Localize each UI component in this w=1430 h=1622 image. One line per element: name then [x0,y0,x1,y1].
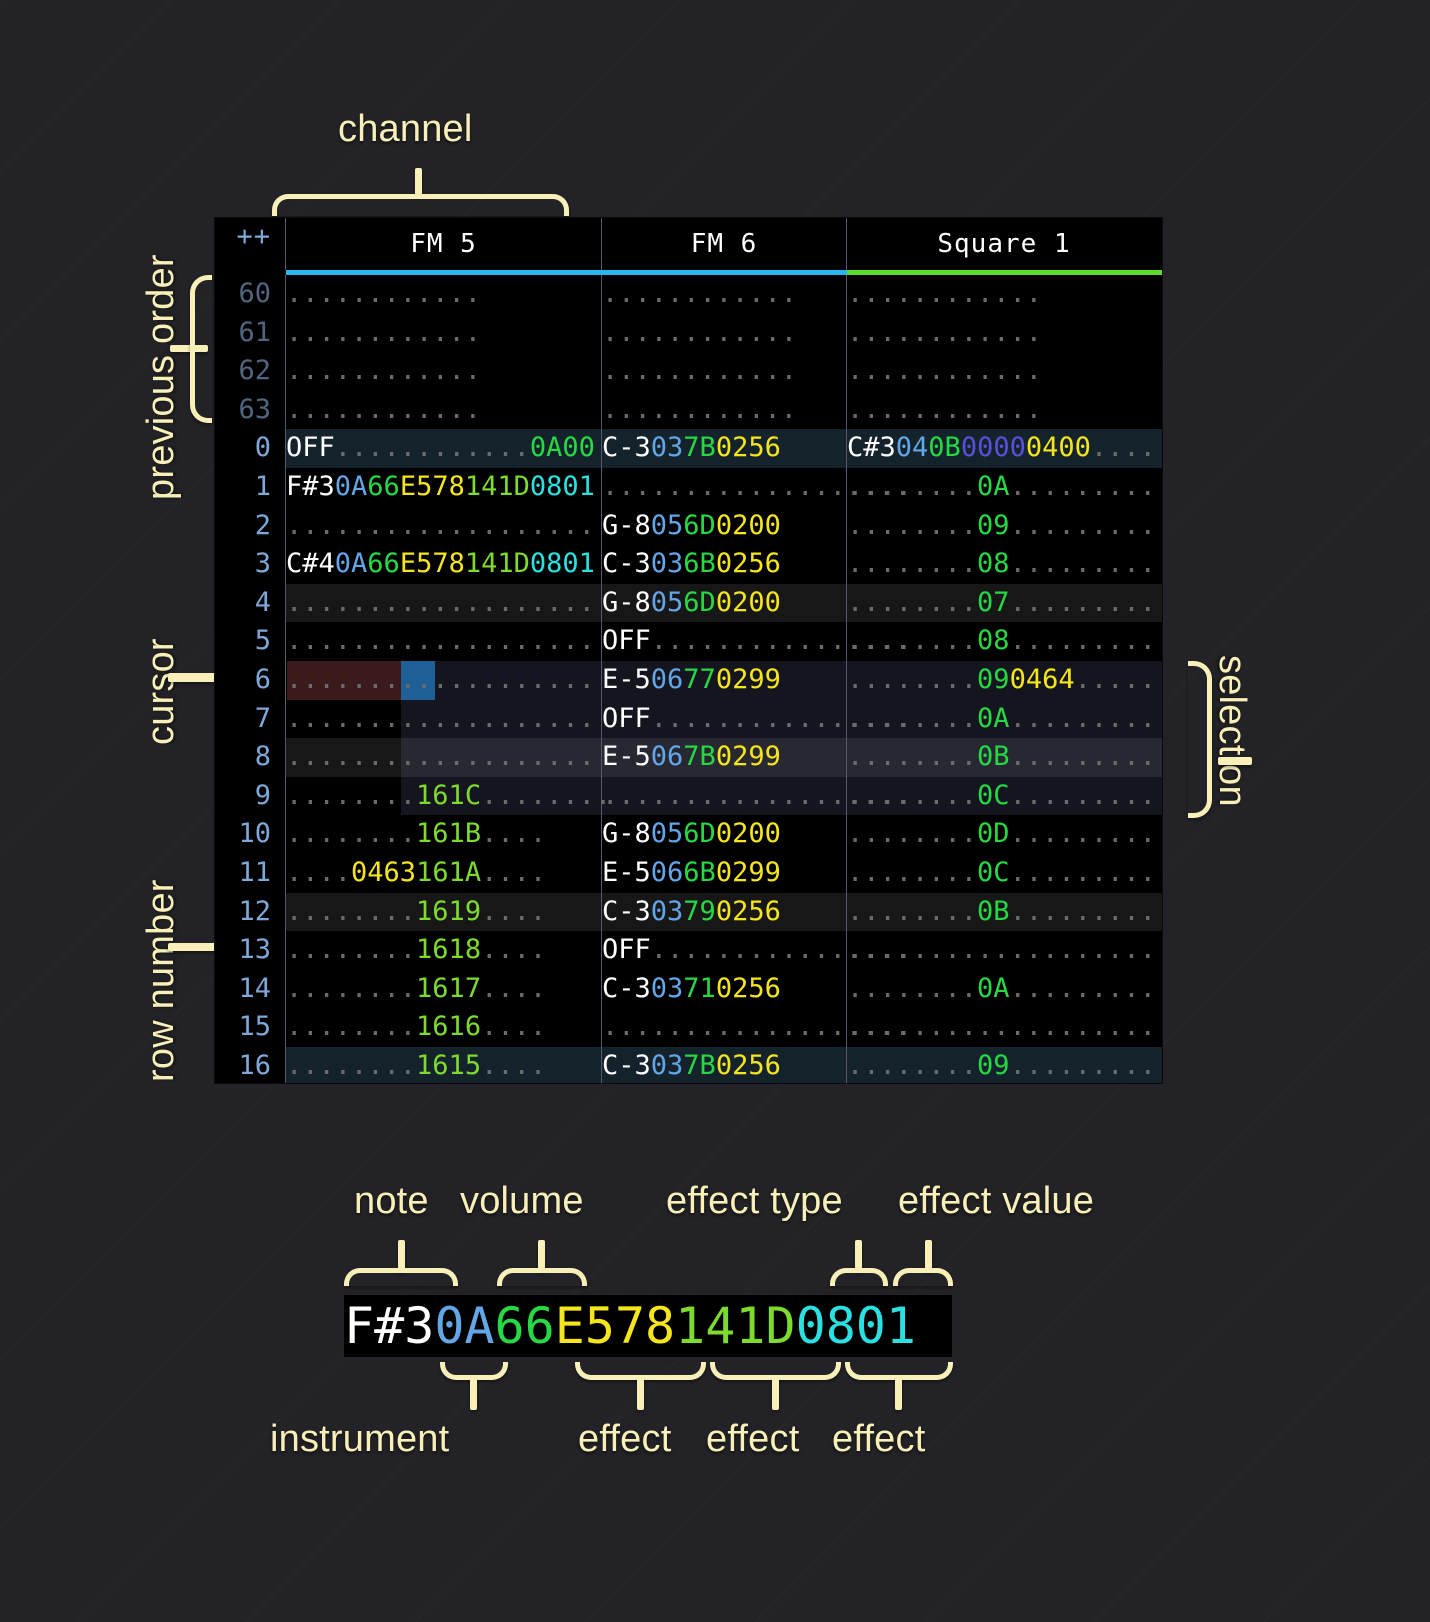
cell-token: 66 [367,471,400,502]
cell-token: ................... [847,934,1156,965]
row-number-cell: 11 [215,854,286,893]
channel-cell[interactable]: ........0D.......... [847,815,1161,854]
channel-header-fm5[interactable]: FM 5 [286,218,602,270]
channel-header-bar: ++ FM 5 FM 6 Square 1 [215,218,1162,270]
row-number-cell: 3 [215,545,286,584]
channel-cell[interactable]: ................... [286,700,602,739]
annotation-instrument: instrument [270,1418,449,1461]
cell-token: ................... [286,510,595,541]
row-number-cell: 16 [215,1047,286,1083]
effect1-leader-line [637,1378,644,1410]
row-number-cell: 63 [215,391,286,430]
channel-cell[interactable]: ............ [286,275,602,314]
cell-token: ........ [847,471,977,502]
cell-token: 0A00 [530,432,595,463]
channel-cell[interactable]: ................... [847,931,1161,970]
cell-token: 79 [683,896,716,927]
cell-token: ........ [847,896,977,927]
pattern-row[interactable]: 16........1615....C-3037B0256........09.… [215,1047,1162,1083]
cell-token: C#3 [847,432,896,463]
instrument-leader-line [470,1378,477,1410]
cell-token: .......... [1010,625,1162,656]
cell-token: ........ [847,625,977,656]
annotation-volume: volume [460,1180,584,1223]
channel-cell[interactable]: ............ [602,352,847,391]
channel-cell[interactable]: ........0C.......... [847,854,1161,893]
channel-cell[interactable]: ........1615.... [286,1047,602,1083]
legend-token: E578 [555,1297,675,1355]
channel-cell[interactable]: C-3037B0256 [602,429,847,468]
channel-cell[interactable]: ........0A.......... [847,700,1161,739]
row-cells[interactable]: ........1615....C-3037B0256........09...… [286,1047,1162,1083]
note-breakdown-strip: F#30A66E578141D0801 [344,1295,952,1357]
cell-token: .......... [1010,818,1162,849]
cell-token: 0256 [716,1050,781,1081]
cell-token: ........ [286,896,416,927]
channel-cell[interactable]: ................... [602,468,847,507]
row-number-cell: 62 [215,352,286,391]
cell-token: 05 [651,510,684,541]
cell-token: F#3 [286,471,335,502]
row-number-cell: 12 [215,893,286,932]
cell-token: .......... [1010,741,1162,772]
cell-token: 09 [977,510,1010,541]
channel-cell[interactable]: ................... [847,1008,1161,1047]
cell-token: ........ [847,780,977,811]
pattern-row[interactable]: 11....0463161A....E-5066B0299........0C.… [215,854,1162,893]
cell-token: .... [286,857,351,888]
annotation-row-number: row number [140,879,183,1082]
pattern-row[interactable]: 15........1616..........................… [215,1008,1162,1047]
cell-token: 7B [683,432,716,463]
cell-token: OFF [286,432,335,463]
channel-cell[interactable]: G-8056D0200 [602,584,847,623]
cell-token: ........ [847,587,977,618]
channel-cell[interactable]: ................... [286,584,602,623]
row-number-cell: 60 [215,275,286,314]
cell-token: E-5 [602,857,651,888]
channel-cell[interactable]: ................... [286,507,602,546]
cell-token: 0A [977,973,1010,1004]
cell-token: C-3 [602,896,651,927]
cell-token: ............ [602,355,797,386]
channel-cell[interactable]: C-303790256 [602,893,847,932]
cell-token: ........ [847,818,977,849]
channel-cell[interactable]: ............ [847,391,1161,430]
row-number-cell: 5 [215,622,286,661]
cell-token: ................... [286,587,595,618]
cell-token: ............ [286,278,481,309]
channel-cell[interactable]: ........0A.......... [847,970,1161,1009]
pattern-row[interactable]: 62.................................... [215,352,1162,391]
cell-token: C-3 [602,973,651,1004]
annotation-effect-2: effect [706,1418,799,1461]
channel-cell[interactable]: F#30A66E578141D0801 [286,468,602,507]
cell-token: 1619 [416,896,481,927]
cell-token: .... [481,934,546,965]
cell-token: .......... [1010,857,1162,888]
cell-token: 06 [651,664,684,695]
channel-cell[interactable]: ........08.......... [847,622,1161,661]
row-cells[interactable]: .................................... [286,352,1162,391]
row-cells[interactable]: ........1617....C-303710256........0A...… [286,970,1162,1009]
cell-token: OFF [602,703,651,734]
cell-token: OFF [602,934,651,965]
pattern-row[interactable]: 8...................E-5067B0299........0… [215,738,1162,777]
cell-token: ........ [847,741,977,772]
cell-token: .... [481,1011,546,1042]
cell-token: 0200 [716,587,781,618]
cell-token: 0B [928,432,961,463]
cell-token: ........ [847,1050,977,1081]
cell-token: ........ [286,1050,416,1081]
channel-cell[interactable]: C#3040B00000400.... [847,429,1161,468]
channel-bracket [272,194,569,216]
row-number-cell: 10 [215,815,286,854]
channel-cell[interactable]: E-5066B0299 [602,854,847,893]
pattern-row[interactable]: 2...................G-8056D0200........0… [215,507,1162,546]
row-cells[interactable]: ...................E-5067B0299........0B… [286,738,1162,777]
row-cells[interactable]: F#30A66E578141D0801.....................… [286,468,1162,507]
channel-cell[interactable]: ............ [602,391,847,430]
channel-cell[interactable]: ........1617.... [286,970,602,1009]
cell-token: .......... [1010,780,1162,811]
effect-value-bracket [893,1268,953,1286]
row-cells[interactable]: ...................OFF..................… [286,700,1162,739]
cell-token: 0801 [530,471,595,502]
cell-token: 6D [683,587,716,618]
cell-token: 0299 [716,664,781,695]
cell-token: 0A [335,471,368,502]
channel-cell[interactable]: ............ [286,352,602,391]
cell-token: G-8 [602,510,651,541]
legend-token: 0801 [796,1297,916,1355]
cell-token: ........ [847,973,977,1004]
cell-token: 0200 [716,510,781,541]
row-cells[interactable]: ...................G-8056D0200........09… [286,507,1162,546]
channel-cell[interactable]: ........161C........ [286,777,602,816]
annotation-effect-1: effect [578,1418,671,1461]
channel-header-fm6[interactable]: FM 6 [602,218,847,270]
pattern-row[interactable]: 7...................OFF.................… [215,700,1162,739]
cell-token: C-3 [602,432,651,463]
pattern-row[interactable]: 5...................OFF.................… [215,622,1162,661]
row-cells[interactable]: ....0463161A....E-5066B0299........0C...… [286,854,1162,893]
channel-cell[interactable]: ........161B.... [286,815,602,854]
cell-token: ............ [286,317,481,348]
cell-token: ............ [847,355,1042,386]
row-cells[interactable]: OFF............0A00C-3037B0256C#3040B000… [286,429,1162,468]
cell-token: 0400 [1026,432,1091,463]
cell-token: C-3 [602,1050,651,1081]
channel-cell[interactable]: ............ [847,314,1161,353]
cell-token: 0256 [716,896,781,927]
pattern-row[interactable]: 1F#30A66E578141D0801....................… [215,468,1162,507]
cell-token: 141D [465,471,530,502]
selection-bracket [1188,661,1212,818]
cell-token: G-8 [602,587,651,618]
cell-token: .......... [1010,973,1162,1004]
channel-cell[interactable]: OFF............0A00 [286,429,602,468]
cell-token: ................... [286,741,595,772]
cell-token: 0256 [716,432,781,463]
cell-token: ........ [847,664,977,695]
row-cells[interactable]: .................................... [286,314,1162,353]
channel-cell[interactable]: OFF................ [602,622,847,661]
cell-token: 0801 [530,548,595,579]
cell-token: 0256 [716,973,781,1004]
cell-token: .......... [1010,896,1162,927]
channel-cell[interactable]: E-5067B0299 [602,738,847,777]
channel-cell[interactable]: OFF................ [602,700,847,739]
channel-cell[interactable]: ........0C.......... [847,777,1161,816]
channel-cell[interactable]: ........0A.......... [847,468,1161,507]
pattern-row[interactable]: 9........161C...........................… [215,777,1162,816]
row-number-cell: 1 [215,468,286,507]
cell-token: ................... [286,664,595,695]
cell-token: ........ [481,780,611,811]
cell-token: 0000 [961,432,1026,463]
cell-token: 141D [465,548,530,579]
channel-cell[interactable]: OFF................ [602,931,847,970]
row-cells[interactable]: ........161C............................… [286,777,1162,816]
pattern-row[interactable]: 60.................................... [215,275,1162,314]
row-number-cell: 4 [215,584,286,623]
cell-token: ............ [602,278,797,309]
cell-token: 0299 [716,741,781,772]
cell-token: .... [481,857,546,888]
cell-token: 0B [977,741,1010,772]
cell-token: .......... [1010,471,1162,502]
row-cells[interactable]: ........1616............................… [286,1008,1162,1047]
cell-token: ........ [286,973,416,1004]
channel-cell[interactable]: C-3036B0256 [602,545,847,584]
cell-token: .......... [1010,703,1162,734]
cell-token: 0C [977,780,1010,811]
pattern-row[interactable]: 6...................E-506770299........0… [215,661,1162,700]
cell-token: ............ [602,394,797,425]
pattern-row[interactable]: 12........1619....C-303790256........0B.… [215,893,1162,932]
cell-token: .......... [1010,587,1162,618]
cell-token: 161A [416,857,481,888]
cell-token: 0A [977,703,1010,734]
cell-token: E578 [400,548,465,579]
row-cells[interactable]: ...................OFF..................… [286,622,1162,661]
order-marker[interactable]: ++ [215,218,286,270]
row-cells[interactable]: C#40A66E578141D0801C-3036B0256........08… [286,545,1162,584]
effect2-leader-line [772,1378,779,1410]
row-cells[interactable]: .................................... [286,391,1162,430]
row-cells[interactable]: ........161B....G-8056D0200........0D...… [286,815,1162,854]
cell-token: 0256 [716,548,781,579]
cell-token: E578 [400,471,465,502]
channel-cell[interactable]: ........1619.... [286,893,602,932]
selection-leader-line [1218,757,1252,765]
pattern-row[interactable]: 10........161B....G-8056D0200........0D.… [215,815,1162,854]
pattern-rows[interactable]: 60....................................61… [215,275,1162,1083]
cell-token: ........ [286,934,416,965]
channel-cell[interactable]: ................... [286,661,602,700]
volume-bracket [497,1268,587,1286]
cell-token: 04 [896,432,929,463]
annotation-previous-order: previous order [140,254,183,500]
cell-token: ............ [602,317,797,348]
cell-token: ............ [847,394,1042,425]
channel-cell[interactable]: ............ [847,352,1161,391]
row-number-cell: 7 [215,700,286,739]
row-cells[interactable]: ...................E-506770299........09… [286,661,1162,700]
channel-cell[interactable]: ............ [602,314,847,353]
cell-token: .......... [1010,548,1162,579]
cell-token: 05 [651,587,684,618]
effect-type-bracket [830,1268,888,1286]
row-number-cell: 14 [215,970,286,1009]
cell-token: ........ [286,1011,416,1042]
cell-token: .... [481,973,546,1004]
cell-token: 09 [977,1050,1010,1081]
cell-token: 1616 [416,1011,481,1042]
cell-token: ............ [286,394,481,425]
cell-token: OFF [602,625,651,656]
cell-token: 77 [683,664,716,695]
cell-token: 71 [683,973,716,1004]
legend-token: 0A [434,1297,494,1355]
channel-cell[interactable]: G-8056D0200 [602,507,847,546]
cell-token: .......... [1010,1050,1162,1081]
cell-token: ................... [286,703,595,734]
row-number-cell: 61 [215,314,286,353]
cell-token: ............ [847,317,1042,348]
cell-token: .... [481,896,546,927]
channel-cell[interactable]: C-303710256 [602,970,847,1009]
cell-token: ........ [286,780,416,811]
channel-cell[interactable]: ........09.......... [847,1047,1161,1083]
cell-token: C-3 [602,548,651,579]
pattern-row[interactable]: 13........1618....OFF...................… [215,931,1162,970]
cell-token: 07 [977,587,1010,618]
channel-cell[interactable]: ................... [602,777,847,816]
cell-token: .... [481,1050,546,1081]
pattern-row[interactable]: 3C#40A66E578141D0801C-3036B0256........0… [215,545,1162,584]
cell-token: 0A [335,548,368,579]
cell-token: 03 [651,432,684,463]
cell-token: 161B [416,818,481,849]
cell-token: 6B [683,548,716,579]
cell-token: 1615 [416,1050,481,1081]
channel-cell[interactable]: ............ [602,275,847,314]
channel-cell[interactable]: ............ [286,314,602,353]
row-number-cell: 6 [215,661,286,700]
cell-token: 03 [651,1050,684,1081]
row-cells[interactable]: ........1618....OFF.....................… [286,931,1162,970]
pattern-editor[interactable]: ++ FM 5 FM 6 Square 1 60................… [215,218,1162,1083]
cell-token: ............ [847,278,1042,309]
cell-token: 08 [977,548,1010,579]
cell-token: 06 [651,857,684,888]
cell-token: 0B [977,896,1010,927]
channel-cell[interactable]: ................... [286,622,602,661]
cell-token: .... [1091,432,1156,463]
row-cells[interactable]: .................................... [286,275,1162,314]
cell-token: 06 [651,741,684,772]
pattern-row[interactable]: 14........1617....C-303710256........0A.… [215,970,1162,1009]
cell-token: 7B [683,741,716,772]
row-number-cell: 13 [215,931,286,970]
legend-token: 141D [675,1297,795,1355]
cell-token: 03 [651,548,684,579]
legend-token: 66 [495,1297,555,1355]
channel-cell[interactable]: G-8056D0200 [602,815,847,854]
pattern-row[interactable]: 0OFF............0A00C-3037B0256C#3040B00… [215,429,1162,468]
channel-cell[interactable]: ................... [602,1008,847,1047]
channel-cell[interactable]: ........1616.... [286,1008,602,1047]
row-cells[interactable]: ........1619....C-303790256........0B...… [286,893,1162,932]
channel-cell[interactable]: ........07.......... [847,584,1161,623]
pattern-row[interactable]: 4...................G-8056D0200........0… [215,584,1162,623]
cell-token: ...... [1075,664,1162,695]
cell-token: ............ [335,432,530,463]
note-bracket [344,1268,458,1286]
channel-cell[interactable]: ........08.......... [847,545,1161,584]
cell-token: 66 [367,548,400,579]
cell-token: 1617 [416,973,481,1004]
cell-token: 0299 [716,857,781,888]
cell-token: 6B [683,857,716,888]
channel-cell[interactable]: ....0463161A.... [286,854,602,893]
cell-token: ........ [847,857,977,888]
row-number-cell: 15 [215,1008,286,1047]
row-number-cell: 8 [215,738,286,777]
annotation-effect-type: effect type [666,1180,843,1223]
pattern-row[interactable]: 63.................................... [215,391,1162,430]
cell-token: 09 [977,664,1010,695]
cell-token: 0464 [1010,664,1075,695]
channel-leader-line [415,168,422,196]
cell-token: ........ [847,703,977,734]
previous-order-bracket [190,275,212,423]
cell-token: .... [481,818,546,849]
channel-cell[interactable]: C#40A66E578141D0801 [286,545,602,584]
cell-token: 0A [977,471,1010,502]
channel-cell[interactable]: ........090464...... [847,661,1161,700]
channel-cell[interactable]: ........0B.......... [847,893,1161,932]
cell-token: 1618 [416,934,481,965]
channel-header-square1[interactable]: Square 1 [847,218,1161,270]
channel-cell[interactable]: E-506770299 [602,661,847,700]
cell-token: 08 [977,625,1010,656]
annotation-effect-3: effect [832,1418,925,1461]
channel-cell[interactable]: ................... [286,738,602,777]
channel-cell[interactable]: ........09.......... [847,507,1161,546]
cell-token: ................... [286,625,595,656]
channel-cell[interactable]: ........0B.......... [847,738,1161,777]
channel-cell[interactable]: ........1618.... [286,931,602,970]
row-number-cell: 2 [215,507,286,546]
row-number-cell: 0 [215,429,286,468]
annotation-effect-value: effect value [898,1180,1094,1223]
cell-token: 6D [683,510,716,541]
pattern-row[interactable]: 61.................................... [215,314,1162,353]
row-cells[interactable]: ...................G-8056D0200........07… [286,584,1162,623]
channel-cell[interactable]: C-3037B0256 [602,1047,847,1083]
cell-token: 05 [651,818,684,849]
annotation-selection: selection [1210,655,1253,807]
cell-token: ................... [847,1011,1156,1042]
channel-cell[interactable]: ............ [847,275,1161,314]
annotation-note: note [354,1180,429,1223]
channel-cell[interactable]: ............ [286,391,602,430]
cell-token: 7B [683,1050,716,1081]
